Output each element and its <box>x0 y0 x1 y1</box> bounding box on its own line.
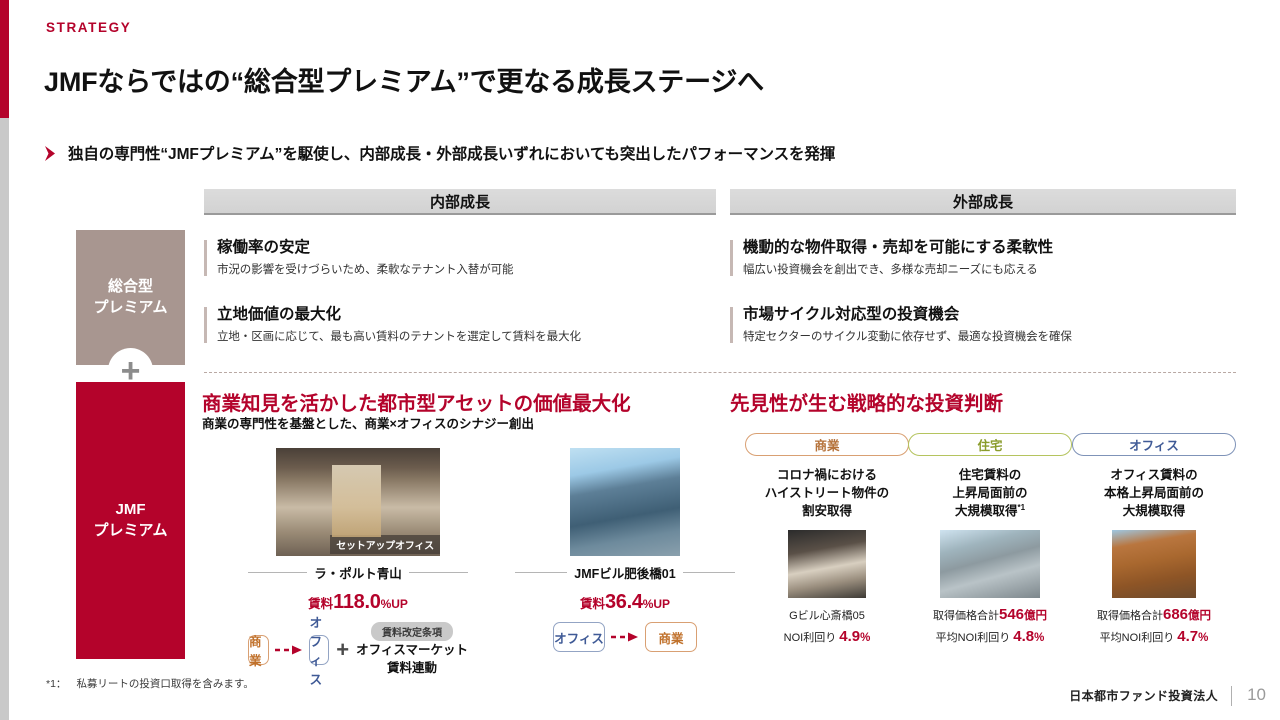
stat-value: 4.9 <box>839 628 860 645</box>
sector-heading-line3: 大規模取得 <box>1072 502 1236 520</box>
footer-separator <box>1231 686 1232 706</box>
section-title-right: 先見性が生む戦略的な投資判断 <box>730 387 1003 416</box>
sector-heading-line1: コロナ禍における <box>745 466 909 484</box>
page-title: JMFならではの“総合型プレミアム”で更なる成長ステージへ <box>44 60 764 99</box>
sector-stat-2: 平均NOI利回り 4.7% <box>1072 628 1236 645</box>
stat-prefix: 取得価格合計 <box>1097 610 1163 622</box>
bullet-external-1: 機動的な物件取得・売却を可能にする柔軟性 幅広い投資機会を創出でき、多様な売却ニ… <box>730 238 1230 278</box>
conversion-flow-2: オフィス 商業 <box>515 622 735 652</box>
lead-text: 独自の専門性“JMFプレミアム”を駆使し、内部成長・外部成長いずれにおいても突出… <box>68 142 835 164</box>
case-card-1: セットアップオフィス ラ・ポルト青山 賃料118.0%UP 商業 オフィス + … <box>248 448 468 677</box>
sector-stat-1: Gビル心斎橋05 <box>745 606 909 623</box>
addon-group: 賃料改定条項 オフィスマーケット 賃料連動 <box>356 622 468 677</box>
bullet-external-2: 市場サイクル対応型の投資機会 特定セクターのサイクル変動に依存せず、最適な投資機… <box>730 305 1230 345</box>
footnote-mark: *1： <box>46 678 66 690</box>
rail-block-integrated-premium: 総合型 プレミアム <box>76 230 185 365</box>
stat-unit: 億円 <box>1024 610 1047 622</box>
sector-heading-line2: 上昇局面前の <box>908 484 1072 502</box>
bullet-title: 稼働率の安定 <box>217 238 704 258</box>
rail-block-jmf-premium: JMF プレミアム <box>76 382 185 659</box>
metric-unit: %UP <box>381 597 408 611</box>
left-edge-accent-red <box>0 0 9 118</box>
stat-value: 546 <box>999 606 1024 623</box>
section-divider <box>204 372 1236 373</box>
bullet-title: 立地価値の最大化 <box>217 305 704 325</box>
pill-to: 商業 <box>645 622 697 652</box>
sector-heading-line3: 大規模取得*1 <box>908 502 1072 520</box>
rent-uplift-metric: 賃料118.0%UP <box>248 591 468 614</box>
metric-value: 118.0 <box>333 591 380 613</box>
footer-brand: 日本都市ファンド投資法人 <box>1069 687 1218 704</box>
sector-badge: 住宅 <box>908 433 1072 456</box>
plus-icon: + <box>336 637 349 663</box>
addon-line1: オフィスマーケット <box>356 643 468 657</box>
stat-unit: % <box>1198 632 1208 644</box>
lead-statement: 独自の専門性“JMFプレミアム”を駆使し、内部成長・外部成長いずれにおいても突出… <box>44 142 835 164</box>
addon-badge: 賃料改定条項 <box>371 622 453 641</box>
bullet-subtitle: 幅広い投資機会を創出でき、多様な売却ニーズにも応える <box>743 263 1230 278</box>
property-photo-jmf-higobashi-01 <box>570 448 680 556</box>
stat-prefix: NOI利回り <box>784 632 837 644</box>
property-name: ラ・ポルト青山 <box>314 563 402 582</box>
bullet-subtitle: 立地・区画に応じて、最も高い賃料のテナントを選定して賃料を最大化 <box>217 330 704 345</box>
sector-heading-line2: 本格上昇局面前の <box>1072 484 1236 502</box>
stat-prefix: 平均NOI利回り <box>1100 632 1175 644</box>
rail-red-line1: JMF <box>116 500 146 520</box>
sector-heading-line1: オフィス賃料の <box>1072 466 1236 484</box>
left-edge-accent-grey <box>0 118 9 720</box>
column-header-external-growth: 外部成長 <box>730 189 1236 215</box>
photo-tag: セットアップオフィス <box>330 535 440 554</box>
footnote: *1：私募リートの投資口取得を含みます。 <box>46 676 254 691</box>
stat-unit: % <box>860 632 870 644</box>
sector-heading-line1: 住宅賃料の <box>908 466 1072 484</box>
section-subtitle-left: 商業の専門性を基盤とした、商業×オフィスのシナジー創出 <box>202 413 534 432</box>
rail-grey-line2: プレミアム <box>94 298 168 318</box>
footnote-ref: *1 <box>1017 503 1025 512</box>
case-card-2: JMFビル肥後橋01 賃料36.4%UP オフィス 商業 <box>515 448 735 652</box>
sector-stat-2: NOI利回り 4.9% <box>745 628 909 645</box>
stat-unit: 億円 <box>1188 610 1211 622</box>
sector-stat-1: 取得価格合計686億円 <box>1072 606 1236 623</box>
sector-heading: 住宅賃料の 上昇局面前の 大規模取得*1 <box>908 466 1072 521</box>
sector-heading: コロナ禍における ハイストリート物件の 割安取得 <box>745 466 909 521</box>
property-photo-gbuilding-shinsaibashi-05 <box>788 530 866 598</box>
rail-red-line2: プレミアム <box>94 521 168 541</box>
column-header-internal-growth: 内部成長 <box>204 189 716 215</box>
pill-to: オフィス <box>309 635 330 665</box>
footnote-text: 私募リートの投資口取得を含みます。 <box>76 678 253 690</box>
rule-right <box>409 572 468 573</box>
sector-badge: 商業 <box>745 433 909 456</box>
metric-label: 賃料 <box>308 597 333 611</box>
property-photo-residential <box>940 530 1040 598</box>
dashed-arrow-icon <box>274 644 304 656</box>
sector-stat-2: 平均NOI利回り 4.8% <box>908 628 1072 645</box>
sector-badge: オフィス <box>1072 433 1236 456</box>
stat-value: 686 <box>1163 606 1188 623</box>
bullet-subtitle: 市況の影響を受けづらいため、柔軟なテナント入替が可能 <box>217 263 704 278</box>
stat-value: 4.8 <box>1013 628 1034 645</box>
stat-prefix: 平均NOI利回り <box>936 632 1011 644</box>
eyebrow-label: STRATEGY <box>46 20 131 35</box>
sector-stat-1: 取得価格合計546億円 <box>908 606 1072 623</box>
pill-from: オフィス <box>553 622 605 652</box>
bullet-internal-2: 立地価値の最大化 立地・区画に応じて、最も高い賃料のテナントを選定して賃料を最大… <box>204 305 704 345</box>
stat-prefix: 取得価格合計 <box>933 610 999 622</box>
case-name-row: ラ・ポルト青山 <box>248 563 468 582</box>
metric-unit: %UP <box>643 597 670 611</box>
case-name-row: JMFビル肥後橋01 <box>515 563 735 582</box>
sector-heading: オフィス賃料の 本格上昇局面前の 大規模取得 <box>1072 466 1236 521</box>
rail-grey-line1: 総合型 <box>108 277 153 297</box>
property-name: JMFビル肥後橋01 <box>574 563 675 582</box>
property-photo-la-porte-aoyama: セットアップオフィス <box>276 448 440 556</box>
bullet-title: 機動的な物件取得・売却を可能にする柔軟性 <box>743 238 1230 258</box>
stat-unit: % <box>1034 632 1044 644</box>
stat-prefix: Gビル心斎橋05 <box>789 610 865 622</box>
metric-label: 賃料 <box>580 597 605 611</box>
page-number: 10 <box>1247 685 1266 705</box>
rule-right <box>683 572 735 573</box>
addon-line2: 賃料連動 <box>387 661 437 675</box>
bullet-internal-1: 稼働率の安定 市況の影響を受けづらいため、柔軟なテナント入替が可能 <box>204 238 704 278</box>
sector-heading-line3: 割安取得 <box>745 502 909 520</box>
sector-card-retail: 商業 コロナ禍における ハイストリート物件の 割安取得 Gビル心斎橋05 NOI… <box>745 433 909 645</box>
sector-card-residential: 住宅 住宅賃料の 上昇局面前の 大規模取得*1 取得価格合計546億円 平均NO… <box>908 433 1072 645</box>
rule-left <box>515 572 567 573</box>
sector-heading-line2: ハイストリート物件の <box>745 484 909 502</box>
bullet-subtitle: 特定セクターのサイクル変動に依存せず、最適な投資機会を確保 <box>743 330 1230 345</box>
chevron-right-icon <box>44 145 57 162</box>
dashed-arrow-icon <box>610 631 640 643</box>
metric-value: 36.4 <box>605 591 643 613</box>
rule-left <box>248 572 307 573</box>
pill-from: 商業 <box>248 635 269 665</box>
bullet-title: 市場サイクル対応型の投資機会 <box>743 305 1230 325</box>
stat-value: 4.7 <box>1177 628 1198 645</box>
property-photo-office <box>1112 530 1196 598</box>
conversion-flow-1: 商業 オフィス + 賃料改定条項 オフィスマーケット 賃料連動 <box>248 622 468 677</box>
sector-card-office: オフィス オフィス賃料の 本格上昇局面前の 大規模取得 取得価格合計686億円 … <box>1072 433 1236 645</box>
rent-uplift-metric: 賃料36.4%UP <box>515 591 735 614</box>
section-title-left: 商業知見を活かした都市型アセットの価値最大化 <box>202 387 631 416</box>
slide-root: STRATEGY JMFならではの“総合型プレミアム”で更なる成長ステージへ 独… <box>0 0 1280 720</box>
